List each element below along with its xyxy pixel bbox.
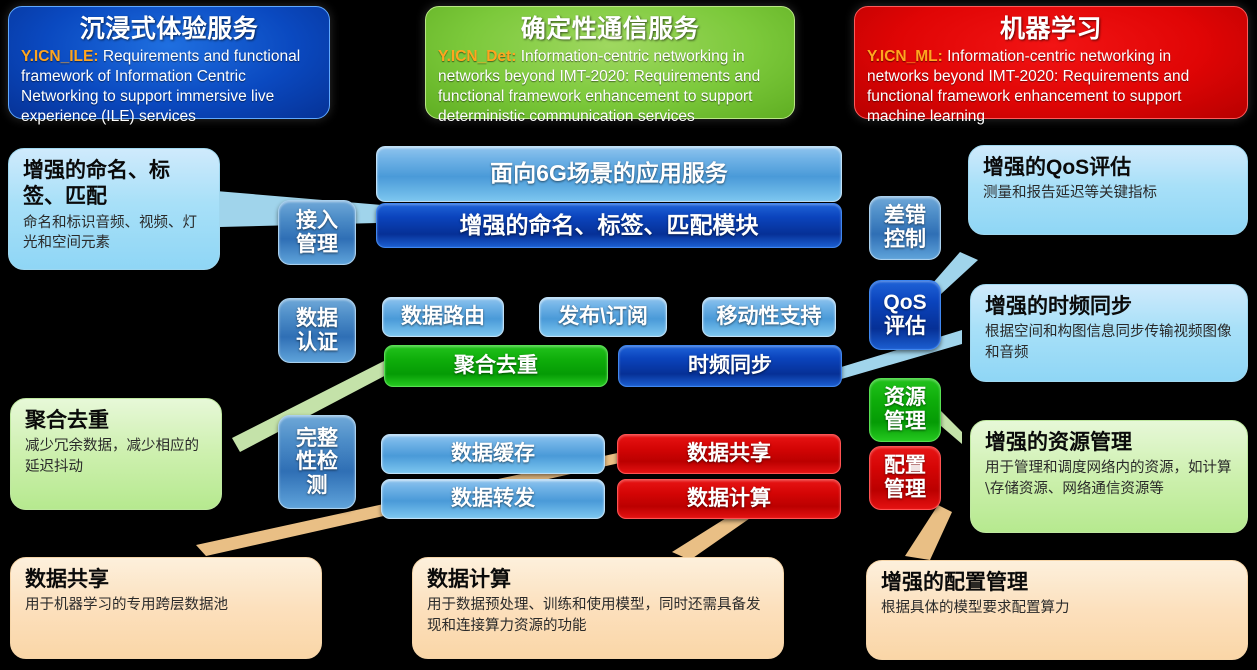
block-data-routing[interactable]: 数据路由 bbox=[382, 297, 504, 337]
rail-left-data-auth-line2: 认证 bbox=[296, 331, 338, 355]
banner-det-title: 确定性通信服务 bbox=[438, 15, 782, 44]
block-data-forward[interactable]: 数据转发 bbox=[381, 479, 605, 519]
callout-enhanced-sync: 增强的时频同步 根据空间和构图信息同步传输视频图像和音频 bbox=[970, 284, 1248, 382]
callout-enhanced-naming: 增强的命名、标签、匹配 命名和标识音频、视频、灯光和空间元素 bbox=[8, 148, 220, 270]
callout-aggregation-title: 聚合去重 bbox=[25, 408, 207, 434]
callout-data-sharing-desc: 用于机器学习的专用跨层数据池 bbox=[25, 595, 307, 616]
banner-ml-body: Y.ICN_ML: Information-centric networking… bbox=[867, 47, 1235, 128]
banner-ile: 沉浸式体验服务 Y.ICN_ILE: Requirements and func… bbox=[8, 6, 330, 119]
rail-left-data-auth[interactable]: 数据 认证 bbox=[278, 298, 356, 363]
block-data-routing-label: 数据路由 bbox=[401, 305, 485, 329]
block-mobility-support[interactable]: 移动性支持 bbox=[702, 297, 836, 337]
block-pub-sub-label: 发布\订阅 bbox=[558, 305, 648, 329]
rail-right-config-mgmt-line1: 配置 bbox=[884, 454, 926, 478]
block-aggregation-dedup-label: 聚合去重 bbox=[454, 354, 538, 378]
block-data-compute-label: 数据计算 bbox=[687, 487, 771, 511]
banner-ml-title: 机器学习 bbox=[867, 15, 1235, 44]
rail-right-qos-eval[interactable]: QoS 评估 bbox=[869, 280, 941, 350]
callout-enhanced-qos-title: 增强的QoS评估 bbox=[983, 155, 1233, 181]
rail-right-resource-mgmt-line1: 资源 bbox=[884, 386, 926, 410]
rail-left-access-mgmt-line1: 接入 bbox=[296, 209, 338, 233]
rail-left-data-auth-line1: 数据 bbox=[296, 307, 338, 331]
rail-left-integrity-check-line2: 性检 bbox=[296, 450, 338, 474]
callout-data-compute-desc: 用于数据预处理、训练和使用模型，同时还需具备发现和连接算力资源的功能 bbox=[427, 595, 769, 636]
callout-enhanced-naming-desc: 命名和标识音频、视频、灯光和空间元素 bbox=[23, 213, 205, 254]
rail-left-integrity-check-line1: 完整 bbox=[296, 427, 338, 451]
rail-right-config-mgmt[interactable]: 配置 管理 bbox=[869, 446, 941, 510]
rail-right-error-control[interactable]: 差错 控制 bbox=[869, 196, 941, 260]
diagram-canvas: 沉浸式体验服务 Y.ICN_ILE: Requirements and func… bbox=[0, 0, 1257, 670]
block-data-compute[interactable]: 数据计算 bbox=[617, 479, 841, 519]
callout-data-sharing: 数据共享 用于机器学习的专用跨层数据池 bbox=[10, 557, 322, 659]
block-naming-module[interactable]: 增强的命名、标签、匹配模块 bbox=[376, 203, 842, 248]
banner-det-body: Y.ICN_Det: Information-centric networkin… bbox=[438, 47, 782, 128]
rail-right-config-mgmt-line2: 管理 bbox=[884, 478, 926, 502]
callout-config-mgmt-desc: 根据具体的模型要求配置算力 bbox=[881, 598, 1233, 619]
callout-enhanced-qos: 增强的QoS评估 测量和报告延迟等关键指标 bbox=[968, 145, 1248, 235]
rail-left-access-mgmt[interactable]: 接入 管理 bbox=[278, 200, 356, 265]
rail-right-qos-eval-line2: 评估 bbox=[884, 315, 926, 339]
callout-enhanced-qos-desc: 测量和报告延迟等关键指标 bbox=[983, 183, 1233, 204]
callout-enhanced-resource: 增强的资源管理 用于管理和调度网络内的资源，如计算\存储资源、网络通信资源等 bbox=[970, 420, 1248, 533]
callout-config-mgmt: 增强的配置管理 根据具体的模型要求配置算力 bbox=[866, 560, 1248, 660]
block-data-sharing-label: 数据共享 bbox=[687, 442, 771, 466]
rail-right-error-control-line2: 控制 bbox=[884, 228, 926, 252]
block-time-freq-sync-label: 时频同步 bbox=[688, 354, 772, 378]
callout-enhanced-naming-title: 增强的命名、标签、匹配 bbox=[23, 158, 205, 211]
block-time-freq-sync[interactable]: 时频同步 bbox=[618, 345, 842, 387]
block-naming-module-label: 增强的命名、标签、匹配模块 bbox=[460, 213, 759, 239]
rail-right-resource-mgmt-line2: 管理 bbox=[884, 410, 926, 434]
banner-det: 确定性通信服务 Y.ICN_Det: Information-centric n… bbox=[425, 6, 795, 119]
block-app-service-label: 面向6G场景的应用服务 bbox=[490, 161, 728, 187]
block-pub-sub[interactable]: 发布\订阅 bbox=[539, 297, 667, 337]
block-data-sharing[interactable]: 数据共享 bbox=[617, 434, 841, 474]
callout-enhanced-resource-desc: 用于管理和调度网络内的资源，如计算\存储资源、网络通信资源等 bbox=[985, 458, 1233, 499]
banner-ml: 机器学习 Y.ICN_ML: Information-centric netwo… bbox=[854, 6, 1248, 119]
block-data-cache-label: 数据缓存 bbox=[451, 442, 535, 466]
banner-ile-code: Y.ICN_ILE: bbox=[21, 48, 99, 65]
rail-right-error-control-line1: 差错 bbox=[884, 204, 926, 228]
rail-right-qos-eval-line1: QoS bbox=[883, 291, 926, 315]
block-mobility-support-label: 移动性支持 bbox=[717, 305, 822, 329]
rail-left-integrity-check[interactable]: 完整 性检 测 bbox=[278, 415, 356, 509]
rail-right-resource-mgmt[interactable]: 资源 管理 bbox=[869, 378, 941, 442]
banner-ile-title: 沉浸式体验服务 bbox=[21, 15, 317, 44]
block-data-cache[interactable]: 数据缓存 bbox=[381, 434, 605, 474]
callout-data-compute-title: 数据计算 bbox=[427, 567, 769, 593]
block-app-service[interactable]: 面向6G场景的应用服务 bbox=[376, 146, 842, 202]
banner-ile-body: Y.ICN_ILE: Requirements and functional f… bbox=[21, 47, 317, 128]
block-data-forward-label: 数据转发 bbox=[451, 487, 535, 511]
callout-config-mgmt-title: 增强的配置管理 bbox=[881, 570, 1233, 596]
block-aggregation-dedup[interactable]: 聚合去重 bbox=[384, 345, 608, 387]
banner-det-code: Y.ICN_Det: bbox=[438, 48, 516, 65]
callout-aggregation-desc: 减少冗余数据，减少相应的延迟抖动 bbox=[25, 436, 207, 477]
banner-ml-code: Y.ICN_ML: bbox=[867, 48, 943, 65]
callout-aggregation: 聚合去重 减少冗余数据，减少相应的延迟抖动 bbox=[10, 398, 222, 510]
callout-enhanced-resource-title: 增强的资源管理 bbox=[985, 430, 1233, 456]
callout-enhanced-sync-desc: 根据空间和构图信息同步传输视频图像和音频 bbox=[985, 322, 1233, 363]
callout-data-sharing-title: 数据共享 bbox=[25, 567, 307, 593]
rail-left-access-mgmt-line2: 管理 bbox=[296, 233, 338, 257]
callout-data-compute: 数据计算 用于数据预处理、训练和使用模型，同时还需具备发现和连接算力资源的功能 bbox=[412, 557, 784, 659]
connector-config-mgmt bbox=[905, 505, 952, 560]
rail-left-integrity-check-line3: 测 bbox=[307, 474, 328, 498]
callout-enhanced-sync-title: 增强的时频同步 bbox=[985, 294, 1233, 320]
